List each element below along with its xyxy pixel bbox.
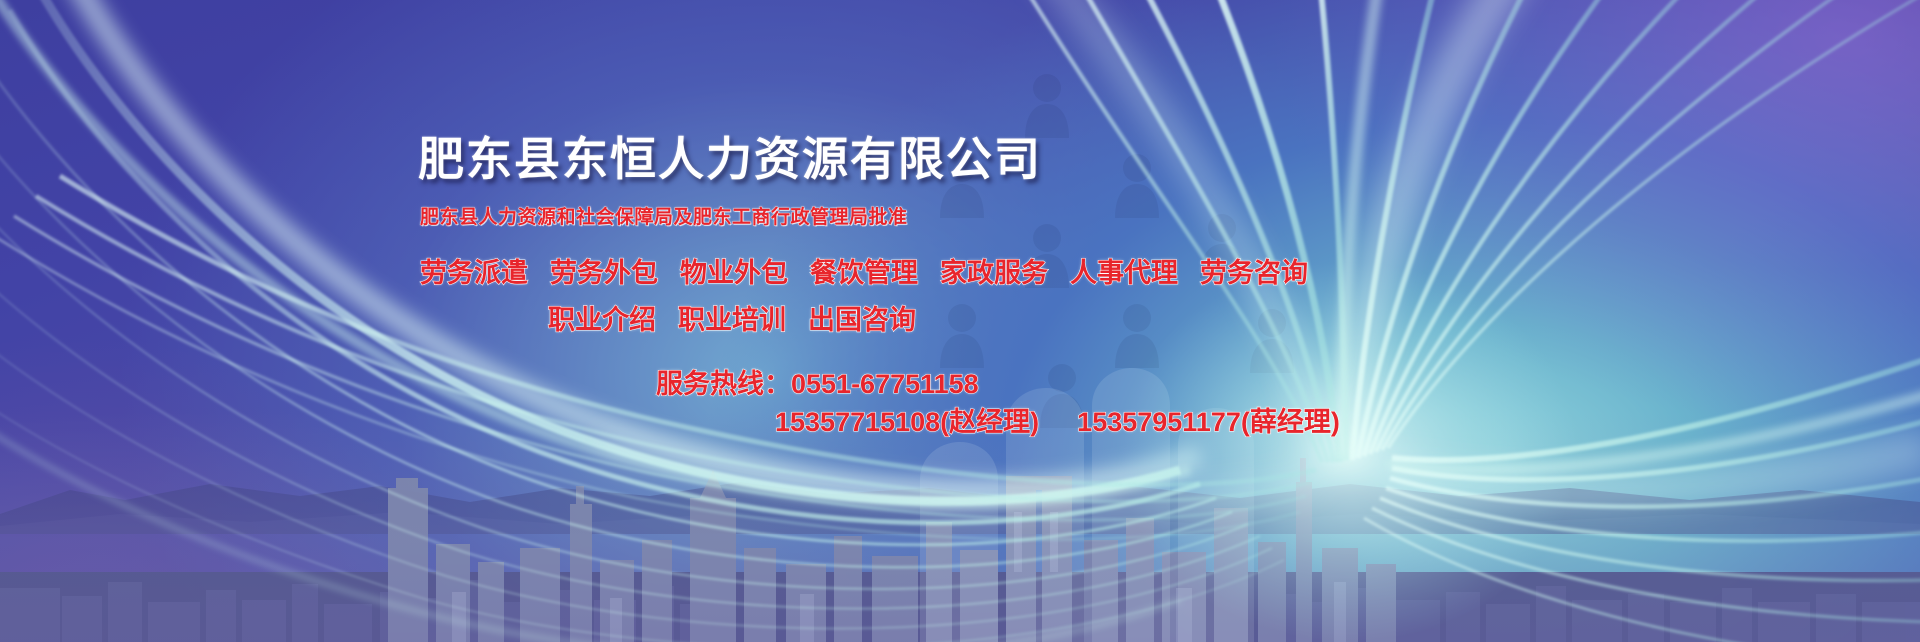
service-item: 职业介绍 [548, 305, 656, 335]
service-item: 餐饮管理 [810, 258, 918, 288]
hotline-mobiles: 15357715108(赵经理)15357951177(薛经理) [775, 400, 1340, 439]
service-item: 物业外包 [680, 258, 788, 288]
hotline-label: 服务热线： [656, 369, 791, 399]
hotline-mobile-xue: 15357951177(薛经理) [1077, 407, 1340, 437]
service-item: 劳务外包 [550, 258, 658, 288]
hotline-number: 0551-67751158 [791, 369, 979, 399]
hotline-mobile-zhao: 15357715108(赵经理) [775, 407, 1039, 437]
service-item: 劳务咨询 [1200, 258, 1308, 288]
service-item: 劳务派遣 [420, 258, 528, 288]
service-item: 人事代理 [1070, 258, 1178, 288]
banner-text-block: 肥东县东恒人力资源有限公司 肥东县人力资源和社会保障局及肥东工商行政管理局批准 … [0, 0, 1920, 642]
services-row-secondary: 职业介绍职业培训出国咨询 [548, 298, 916, 337]
page-title: 肥东县东恒人力资源有限公司 [418, 123, 1042, 189]
promotional-banner: 肥东县东恒人力资源有限公司 肥东县人力资源和社会保障局及肥东工商行政管理局批准 … [0, 0, 1920, 642]
service-item: 家政服务 [940, 258, 1048, 288]
services-row-primary: 劳务派遣劳务外包物业外包餐饮管理家政服务人事代理劳务咨询 [420, 251, 1308, 290]
service-item: 职业培训 [678, 305, 786, 335]
approval-subtitle: 肥东县人力资源和社会保障局及肥东工商行政管理局批准 [420, 202, 908, 229]
service-item: 出国咨询 [808, 305, 916, 335]
hotline-primary: 服务热线：0551-67751158 [656, 362, 979, 401]
